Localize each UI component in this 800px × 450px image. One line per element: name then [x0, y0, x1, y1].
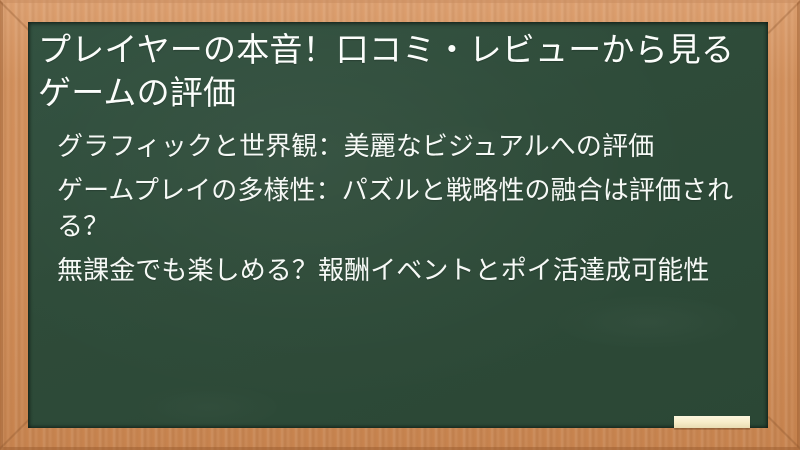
chalkboard-surface: プレイヤーの本音！口コミ・レビューから見るゲームの評価 グラフィックと世界観：美… — [28, 22, 768, 428]
board-content: プレイヤーの本音！口コミ・レビューから見るゲームの評価 グラフィックと世界観：美… — [38, 28, 758, 428]
board-title: プレイヤーの本音！口コミ・レビューから見るゲームの評価 — [38, 28, 738, 114]
topic-item-graphics: グラフィックと世界観：美麗なビジュアルへの評価 — [57, 128, 743, 164]
chalk-stick-icon — [674, 416, 750, 428]
chalkboard-figure: プレイヤーの本音！口コミ・レビューから見るゲームの評価 グラフィックと世界観：美… — [0, 0, 800, 450]
topic-item-free-to-play: 無課金でも楽しめる？報酬イベントとポイ活達成可能性 — [57, 252, 743, 288]
topic-list: グラフィックと世界観：美麗なビジュアルへの評価 ゲームプレイの多様性：パズルと戦… — [38, 128, 758, 288]
topic-item-gameplay: ゲームプレイの多様性：パズルと戦略性の融合は評価される？ — [57, 172, 743, 244]
